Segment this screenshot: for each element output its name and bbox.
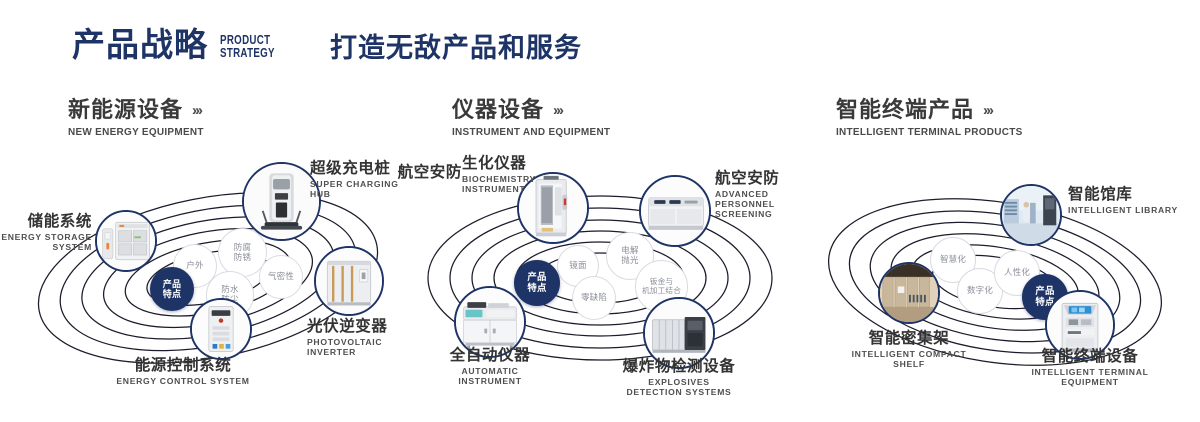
chevrons-icon: ››› [983,102,992,119]
control-cabinet-photo [192,300,250,358]
energy-storage-cabinet-photo [97,212,155,270]
section-header-new-energy: 新能源设备››› NEW ENERGY EQUIPMENT [68,98,211,138]
node-label-en: ADVANCED PERSONNEL SCREENING [715,190,800,220]
node-label-energy-storage-system: 储能系统 ENERGY STORAGE SYSTEM [0,213,92,253]
node-label-cn: 航空安防 [715,170,800,188]
node-label-cn: 智能馆库 [1068,186,1178,204]
node-label-cn: 生化仪器 [462,155,536,173]
node-label-intelligent-compact-shelf: 智能密集架 INTELLIGENT COMPACT SHELF [839,330,979,370]
node-energy-storage-system[interactable] [95,210,157,272]
section-title-en: NEW ENERGY EQUIPMENT [68,126,204,138]
node-label-aviation-security: 航空安防 [362,164,462,182]
node-label-en: PHOTOVOLTAIC INVERTER [307,338,410,358]
feature-bubble: 气密性 [259,255,303,299]
node-label-cn: 智能密集架 [839,330,979,348]
pv-inverter-photo [316,248,382,314]
headline: 打造无敌产品和服务 [330,35,582,62]
chevrons-icon: ››› [553,102,562,119]
cluster-intelligent-terminal: 智慧化 数字化 人性化 产品 特点 [800,150,1200,422]
node-label-en: AUTOMATIC INSTRUMENT [430,367,550,387]
node-intelligent-library[interactable] [1000,184,1062,246]
page-title: 产品战略 PRODUCT STRATEGY [72,28,290,61]
node-intelligent-compact-shelf[interactable] [878,262,940,324]
product-strategy-infographic: 产品战略 PRODUCT STRATEGY 打造无敌产品和服务 新能源设备›››… [0,0,1200,422]
node-label-energy-control-system: 能源控制系统 ENERGY CONTROL SYSTEM [83,357,283,387]
node-label-cn: 能源控制系统 [83,357,283,375]
screening-machine-photo [641,177,709,245]
node-label-automatic-instrument: 全自动仪器 AUTOMATIC INSTRUMENT [430,347,550,387]
node-label-en: INTELLIGENT TERMINAL EQUIPMENT [1010,368,1170,388]
node-label-cn: 爆炸物检测设备 [619,358,739,376]
node-label-cn: 航空安防 [362,164,462,182]
node-label-en: ENERGY CONTROL SYSTEM [83,377,283,387]
node-label-advanced-personnel-screening: 航空安防 ADVANCED PERSONNEL SCREENING [715,170,800,219]
node-label-en: BIOCHEMISTRY INSTRUMENT [462,175,536,195]
node-label-en: SUPER CHARGING HUB [310,180,410,200]
section-title-cn: 智能终端产品 [836,98,974,122]
node-label-intelligent-library: 智能馆库 INTELLIGENT LIBRARY [1068,186,1178,216]
node-label-biochemistry-instrument: 生化仪器 BIOCHEMISTRY INSTRUMENT [462,155,536,195]
section-title-en: INTELLIGENT TERMINAL PRODUCTS [836,126,1023,138]
node-label-en: ENERGY STORAGE SYSTEM [0,233,92,253]
charging-pile-photo [244,164,319,239]
feature-bubble: 零缺陷 [572,276,616,320]
cluster-new-energy: 户外 防腐 防锈 防水 防尘 气密性 产品 特点 超级充电桩 SUPER CHA… [10,150,410,422]
node-label-cn: 全自动仪器 [430,347,550,365]
node-label-intelligent-terminal-equipment: 智能终端设备 INTELLIGENT TERMINAL EQUIPMENT [1010,348,1170,388]
title-en: PRODUCT STRATEGY [220,34,275,59]
node-label-en: INTELLIGENT LIBRARY [1068,206,1178,216]
library-interior-photo [1002,186,1060,244]
section-header-intelligent-terminal: 智能终端产品››› INTELLIGENT TERMINAL PRODUCTS [836,98,1032,138]
automatic-instrument-photo [456,288,524,356]
node-label-cn: 储能系统 [0,213,92,231]
title-cn: 产品战略 [72,28,208,61]
cluster-instrument: 镜面 电解 抛光 钣金与 机加工结合 零缺陷 产品 特点 生化仪器 BIOC [400,150,800,422]
chevrons-icon: ››› [192,102,201,119]
node-photovoltaic-inverter[interactable] [314,246,384,316]
node-energy-control-system[interactable] [190,298,252,360]
section-title-cn: 仪器设备 [452,98,544,122]
core-bubble: 产品 特点 [150,267,194,311]
node-label-en: INTELLIGENT COMPACT SHELF [839,350,979,370]
section-header-instrument: 仪器设备››› INSTRUMENT AND EQUIPMENT [452,98,619,138]
node-label-cn: 光伏逆变器 [307,318,410,336]
node-advanced-personnel-screening[interactable] [639,175,711,247]
compact-shelf-photo [880,264,938,322]
node-label-en: EXPLOSIVES DETECTION SYSTEMS [619,378,739,398]
explosives-detector-photo [645,299,713,367]
node-label-explosives-detection-systems: 爆炸物检测设备 EXPLOSIVES DETECTION SYSTEMS [619,358,739,398]
node-label-photovoltaic-inverter: 光伏逆变器 PHOTOVOLTAIC INVERTER [307,318,410,358]
node-label-cn: 智能终端设备 [1010,348,1170,366]
section-title-cn: 新能源设备 [68,98,183,122]
section-title-en: INSTRUMENT AND EQUIPMENT [452,126,610,138]
